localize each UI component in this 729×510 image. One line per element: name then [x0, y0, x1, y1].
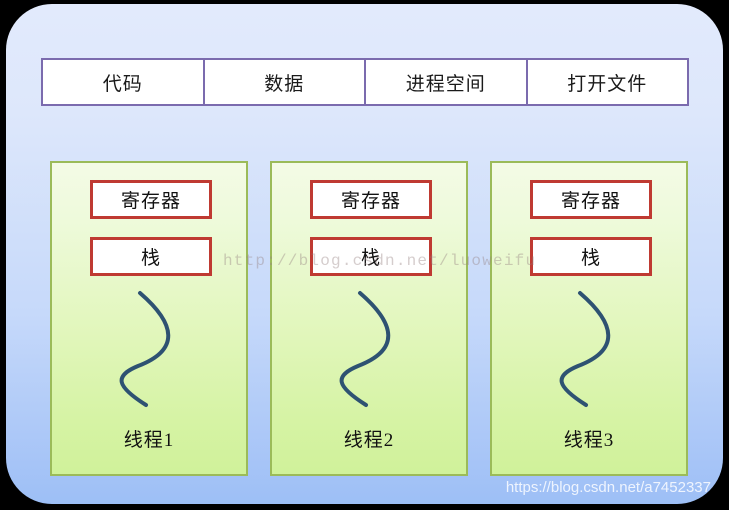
process-attribute-address-space: 进程空间 — [366, 60, 528, 104]
diagram-canvas: 代码 数据 进程空间 打开文件 寄存器 栈 线程1 寄存器 栈 线程2 寄存器 — [0, 0, 729, 510]
thread-stack-box: 栈 — [530, 237, 652, 276]
thread-stack-box: 栈 — [90, 237, 212, 276]
watermark-corner: https://blog.csdn.net/a7452337 — [506, 479, 711, 496]
thread-stack-box: 栈 — [310, 237, 432, 276]
thread-label: 线程3 — [492, 425, 686, 452]
thread-label: 线程2 — [272, 425, 466, 452]
thread-box: 寄存器 栈 线程1 — [50, 161, 248, 476]
thread-execution-path-icon — [314, 288, 428, 408]
process-attribute-open-files: 打开文件 — [528, 60, 688, 104]
thread-box: 寄存器 栈 线程3 — [490, 161, 688, 476]
thread-label: 线程1 — [52, 425, 246, 452]
process-attributes-row: 代码 数据 进程空间 打开文件 — [41, 58, 689, 106]
thread-execution-path-icon — [94, 288, 208, 408]
thread-box: 寄存器 栈 线程2 — [270, 161, 468, 476]
thread-registers-box: 寄存器 — [530, 180, 652, 219]
process-container: 代码 数据 进程空间 打开文件 寄存器 栈 线程1 寄存器 栈 线程2 寄存器 — [6, 4, 723, 504]
process-attribute-data: 数据 — [205, 60, 367, 104]
process-attribute-code: 代码 — [43, 60, 205, 104]
thread-registers-box: 寄存器 — [90, 180, 212, 219]
thread-registers-box: 寄存器 — [310, 180, 432, 219]
thread-execution-path-icon — [534, 288, 648, 408]
